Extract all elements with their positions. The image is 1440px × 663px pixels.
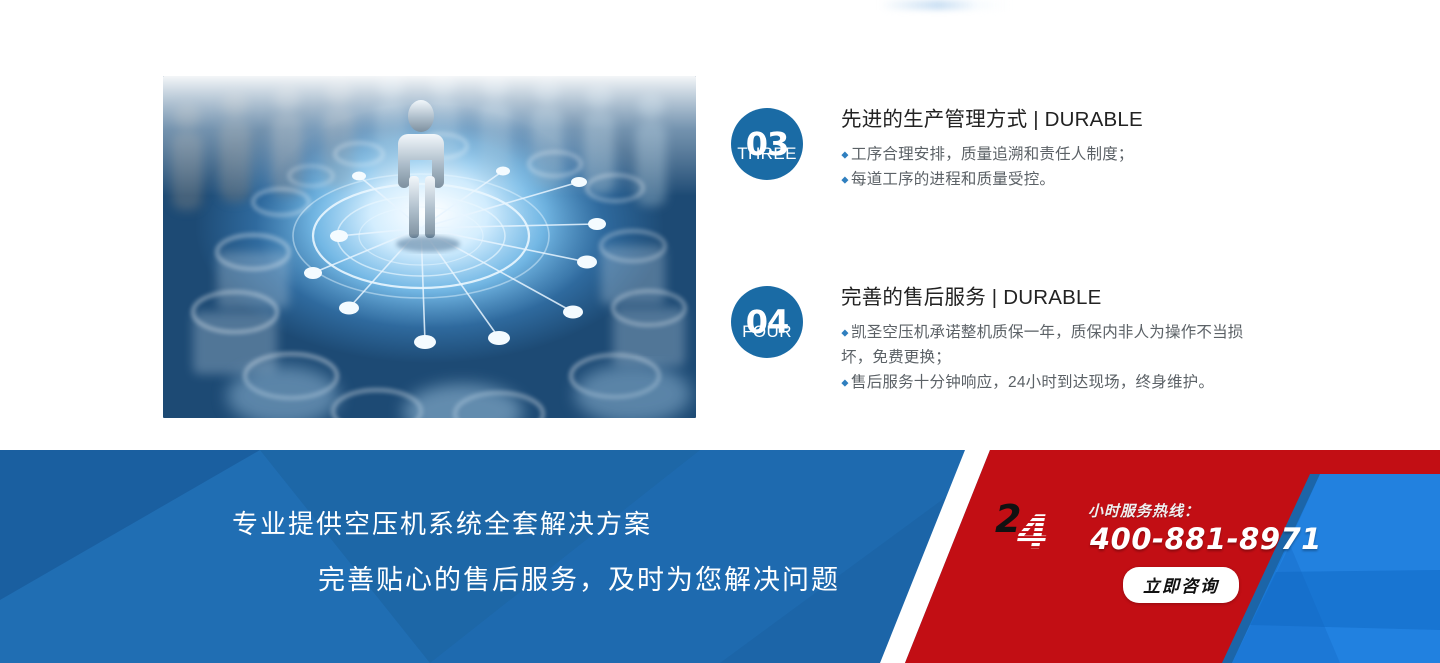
network-illustration-graphic bbox=[163, 76, 696, 418]
feature-title: 完善的售后服务 | DURABLE bbox=[841, 286, 1251, 311]
hotline-phone-number: 400-881-8971 bbox=[1090, 522, 1322, 556]
twenty-four-hours-icon: 2 4 bbox=[995, 498, 1085, 554]
hotline-label: 小时服务热线： bbox=[1088, 500, 1200, 521]
bullet-text: 每道工序的进程和质量受控。 bbox=[851, 171, 1055, 188]
feature-badge-04: 04 FOUR bbox=[731, 286, 803, 358]
diamond-bullet-icon bbox=[841, 379, 848, 386]
feature-bullet-list: 工序合理安排，质量追溯和责任人制度； 每道工序的进程和质量受控。 bbox=[841, 142, 1143, 192]
badge-word: THREE bbox=[737, 145, 797, 162]
hotline-block: 2 4 小时服务热线： 400-881-8971 立即咨询 bbox=[990, 450, 1310, 663]
banner-slogan: 专业提供空压机系统全套解决方案 完善贴心的售后服务，及时为您解决问题 bbox=[0, 450, 1000, 663]
bullet-text: 凯圣空压机承诺整机质保一年，质保内非人为操作不当损坏，免费更换； bbox=[841, 324, 1244, 366]
diamond-bullet-icon bbox=[841, 176, 848, 183]
bullet-text: 售后服务十分钟响应，24小时到达现场，终身维护。 bbox=[851, 374, 1214, 391]
feature-bullet-item: 售后服务十分钟响应，24小时到达现场，终身维护。 bbox=[841, 370, 1251, 395]
feature-title: 先进的生产管理方式 | DURABLE bbox=[841, 108, 1143, 133]
promo-page: 03 THREE 先进的生产管理方式 | DURABLE 工序合理安排，质量追溯… bbox=[0, 0, 1440, 663]
consult-now-button[interactable]: 立即咨询 bbox=[1123, 567, 1239, 603]
diamond-bullet-icon bbox=[841, 151, 848, 158]
feature-text-04: 完善的售后服务 | DURABLE 凯圣空压机承诺整机质保一年，质保内非人为操作… bbox=[841, 286, 1251, 395]
slogan-line-2: 完善贴心的售后服务，及时为您解决问题 bbox=[318, 558, 840, 597]
network-illustration-image bbox=[163, 76, 696, 418]
bottom-cta-banner: 专业提供空压机系统全套解决方案 完善贴心的售后服务，及时为您解决问题 2 4 小… bbox=[0, 450, 1440, 663]
top-gradient-residue bbox=[880, 0, 1010, 10]
diamond-bullet-icon bbox=[841, 329, 848, 336]
feature-bullet-item: 每道工序的进程和质量受控。 bbox=[841, 167, 1143, 192]
slogan-line-1: 专业提供空压机系统全套解决方案 bbox=[232, 504, 652, 541]
feature-bullet-item: 工序合理安排，质量追溯和责任人制度； bbox=[841, 142, 1143, 167]
badge-word: FOUR bbox=[742, 323, 792, 340]
feature-bullet-item: 凯圣空压机承诺整机质保一年，质保内非人为操作不当损坏，免费更换； bbox=[841, 320, 1251, 370]
bullet-text: 工序合理安排，质量追溯和责任人制度； bbox=[851, 146, 1134, 163]
feature-bullet-list: 凯圣空压机承诺整机质保一年，质保内非人为操作不当损坏，免费更换； 售后服务十分钟… bbox=[841, 320, 1251, 395]
feature-badge-03: 03 THREE bbox=[731, 108, 803, 180]
svg-text:4: 4 bbox=[1016, 505, 1049, 554]
feature-text-03: 先进的生产管理方式 | DURABLE 工序合理安排，质量追溯和责任人制度； 每… bbox=[841, 108, 1143, 192]
